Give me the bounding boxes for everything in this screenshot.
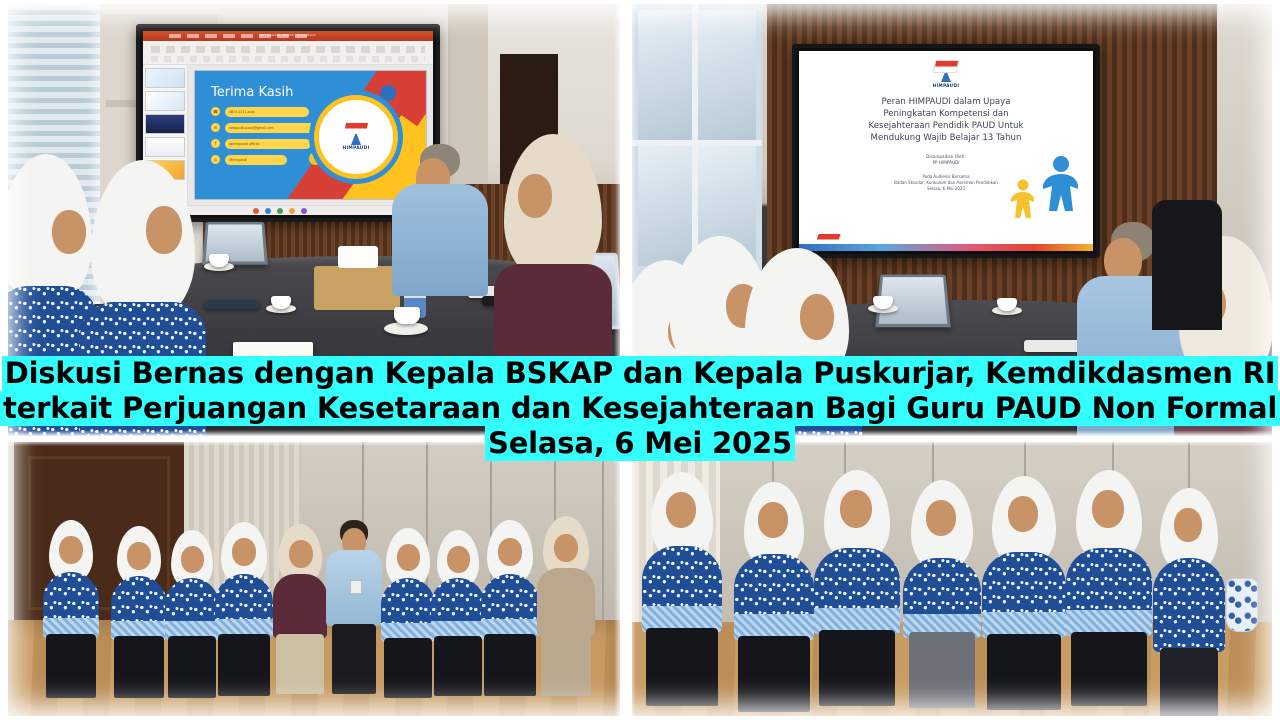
- heading-line-2: Peningkatan Kompetensi dan: [869, 108, 1024, 120]
- contact-email: himpaudi.pusat@gmail.com: [225, 123, 317, 133]
- group-member: [382, 528, 434, 682]
- group-member: [166, 530, 218, 682]
- heading-line-4: Mendukung Wajib Belajar 13 Tahun: [869, 132, 1024, 144]
- group-member: [112, 526, 166, 682]
- himpaudi-logo: HIMPAUDI: [314, 95, 398, 179]
- himpaudi-logo: HIMPAUDI: [933, 60, 960, 88]
- contact-instagram: @himpaudi: [225, 155, 287, 165]
- photo-collage: PPT Audiensi BSKAP - PowerPoint Terima K…: [0, 0, 1280, 720]
- ppt-toolbar: [143, 41, 433, 64]
- participant: [738, 248, 856, 436]
- ceramic-vase: [1226, 578, 1258, 632]
- participant: [84, 160, 202, 436]
- group-member: [984, 476, 1064, 688]
- office-chair: [1152, 200, 1222, 330]
- participant: [498, 134, 608, 334]
- group-member: [904, 480, 980, 690]
- audience-date: Selasa, 6 Mei 2025: [894, 186, 998, 192]
- phone-icon: ☎: [211, 107, 220, 116]
- contact-facebook-text: pphimpaudi official: [229, 142, 260, 146]
- indonesia-flag-icon: [933, 60, 960, 73]
- slide-heading: Peran HIMPAUDI dalam Upaya Peningkatan K…: [849, 96, 1044, 144]
- contact-instagram-text: @himpaudi: [229, 158, 247, 162]
- group-member: [482, 520, 538, 680]
- participant-speaker: [394, 144, 486, 294]
- pen-case: [204, 300, 260, 309]
- photo-bottom-right: [632, 442, 1272, 716]
- contact-facebook: pphimpaudi official: [225, 139, 311, 149]
- yellow-figure-icon: [1007, 179, 1037, 219]
- slide-himpaudi-title: HIMPAUDI Peran HIMPAUDI dalam Upaya Peni…: [799, 51, 1093, 251]
- photo-bottom-left: [8, 442, 620, 716]
- smartphone: [253, 376, 337, 394]
- coffee-cup: [394, 307, 420, 324]
- heading-line-3: Kesejahteraan Pendidik PAUD Untuk: [869, 120, 1024, 132]
- slide-heading: Terima Kasih: [211, 85, 293, 100]
- indonesia-flag-icon: [344, 123, 368, 134]
- contact-phone-text: 0813-1211-xxxx: [229, 110, 255, 114]
- collage-gutter-vertical: [614, 0, 636, 720]
- tissue-sheet: [338, 246, 378, 268]
- heading-line-1: Peran HIMPAUDI dalam Upaya: [869, 96, 1024, 108]
- group-member: [644, 472, 720, 684]
- group-member: [736, 482, 812, 688]
- group-member: [1068, 470, 1150, 686]
- contact-phone: 0813-1211-xxxx: [225, 107, 309, 117]
- slide-audience-block: Pada Audiensi Bersama Badan Standar, Kur…: [894, 174, 998, 192]
- slide-presenter-block: Disampaikan Oleh: PP HIMPAUDI: [926, 154, 966, 166]
- group-member: [816, 470, 898, 686]
- notebook: [233, 342, 313, 370]
- group-member: [274, 524, 326, 680]
- group-member: [44, 520, 98, 680]
- indonesia-flag-icon: [815, 234, 840, 244]
- ppt-window-title: PPT Audiensi BSKAP - PowerPoint: [260, 33, 316, 37]
- tissue-sheet: [950, 360, 994, 384]
- blue-figure-icon: [1037, 155, 1081, 213]
- slide-terima-kasih: Terima Kasih ☎ 0813-1211-xxxx ✉ himpaudi…: [194, 70, 427, 200]
- logo-name: HIMPAUDI: [343, 146, 370, 151]
- logo-name: HIMPAUDI: [933, 83, 960, 88]
- wall-display: HIMPAUDI Peran HIMPAUDI dalam Upaya Peni…: [792, 44, 1100, 258]
- instagram-icon: ◎: [211, 155, 220, 164]
- photo-top-right: HIMPAUDI Peran HIMPAUDI dalam Upaya Peni…: [632, 4, 1272, 436]
- group-member: [432, 530, 484, 682]
- group-member: [216, 522, 272, 680]
- tissue-box: [314, 266, 400, 310]
- group-member-official: [326, 520, 382, 680]
- collage-gutter-horizontal: [0, 430, 1280, 446]
- photo-top-left: PPT Audiensi BSKAP - PowerPoint Terima K…: [8, 4, 620, 436]
- facebook-icon: f: [211, 139, 220, 148]
- contact-email-text: himpaudi.pusat@gmail.com: [229, 126, 274, 130]
- id-badge: [350, 580, 362, 594]
- group-member: [1154, 488, 1224, 690]
- tissue-box: [928, 380, 1018, 426]
- group-member: [538, 516, 594, 680]
- presenter-name: PP HIMPAUDI: [926, 160, 966, 166]
- email-icon: ✉: [211, 123, 220, 132]
- ppt-ribbon: PPT Audiensi BSKAP - PowerPoint: [143, 31, 433, 41]
